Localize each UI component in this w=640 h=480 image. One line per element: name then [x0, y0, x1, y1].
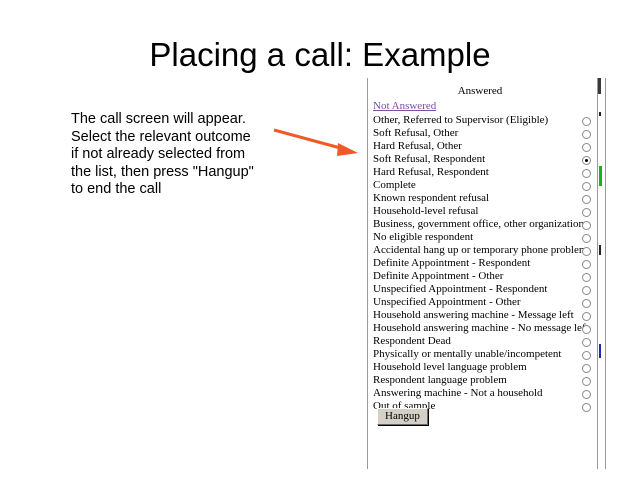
- outcome-row[interactable]: Household-level refusal: [368, 205, 602, 218]
- outcome-label: Respondent language problem: [373, 374, 507, 387]
- outcome-label: Hard Refusal, Respondent: [373, 166, 489, 179]
- outcome-radio[interactable]: [582, 312, 591, 321]
- outcome-radio[interactable]: [582, 273, 591, 282]
- outcome-radio[interactable]: [582, 390, 591, 399]
- outcome-label: Complete: [373, 179, 416, 192]
- outcome-label: Known respondent refusal: [373, 192, 489, 205]
- outcome-radio[interactable]: [582, 338, 591, 347]
- outcome-row[interactable]: Unspecified Appointment - Other: [368, 296, 602, 309]
- outcome-radio[interactable]: [582, 156, 591, 165]
- outcome-radio[interactable]: [582, 247, 591, 256]
- answered-header: Answered: [369, 85, 591, 97]
- outcome-radio[interactable]: [582, 325, 591, 334]
- outcome-row[interactable]: Household level language problem: [368, 361, 602, 374]
- outcome-radio[interactable]: [582, 234, 591, 243]
- outcome-radio[interactable]: [582, 169, 591, 178]
- outcome-row[interactable]: Household answering machine - No message…: [368, 322, 602, 335]
- outcome-row[interactable]: Other, Referred to Supervisor (Eligible): [368, 114, 602, 127]
- outcome-row[interactable]: Hard Refusal, Other: [368, 140, 602, 153]
- outcome-radio[interactable]: [582, 351, 591, 360]
- outcome-radio[interactable]: [582, 143, 591, 152]
- instruction-text: The call screen will appear. Select the …: [71, 111, 286, 199]
- outcome-row[interactable]: Business, government office, other organ…: [368, 218, 602, 231]
- outcome-label: Accidental hang up or temporary phone pr…: [373, 244, 587, 257]
- not-answered-link[interactable]: Not Answered: [373, 100, 436, 112]
- outcome-row[interactable]: Unspecified Appointment - Respondent: [368, 283, 602, 296]
- scrollbar-mark-a: [599, 112, 601, 116]
- outcome-label: Answering machine - Not a household: [373, 387, 543, 400]
- scrollbar-mark-b: [599, 166, 602, 186]
- slide-canvas: Placing a call: Example The call screen …: [0, 0, 640, 480]
- outcome-label: Household answering machine - Message le…: [373, 309, 574, 322]
- scrollbar-mark-d: [599, 344, 601, 358]
- outcome-row[interactable]: Respondent Dead: [368, 335, 602, 348]
- outcome-radio[interactable]: [582, 364, 591, 373]
- outcome-row[interactable]: Respondent language problem: [368, 374, 602, 387]
- outcome-row[interactable]: Soft Refusal, Respondent: [368, 153, 602, 166]
- outcome-radio[interactable]: [582, 195, 591, 204]
- outcome-label: No eligible respondent: [373, 231, 473, 244]
- page-title: Placing a call: Example: [0, 36, 640, 74]
- outcome-radio[interactable]: [582, 182, 591, 191]
- call-screen-panel: Answered Not Answered Other, Referred to…: [367, 78, 601, 469]
- outcome-row[interactable]: Answering machine - Not a household: [368, 387, 602, 400]
- outcome-radio[interactable]: [582, 377, 591, 386]
- outcome-row[interactable]: Definite Appointment - Other: [368, 270, 602, 283]
- outcome-row[interactable]: Complete: [368, 179, 602, 192]
- outcome-radio[interactable]: [582, 117, 591, 126]
- outcome-row[interactable]: Known respondent refusal: [368, 192, 602, 205]
- outcome-radio[interactable]: [582, 260, 591, 269]
- outcome-row[interactable]: Hard Refusal, Respondent: [368, 166, 602, 179]
- outcome-label: Definite Appointment - Respondent: [373, 257, 530, 270]
- hangup-button[interactable]: Hangup: [377, 408, 428, 425]
- panel-scrollbar[interactable]: [597, 78, 606, 469]
- outcome-label: Soft Refusal, Other: [373, 127, 458, 140]
- outcome-row[interactable]: Accidental hang up or temporary phone pr…: [368, 244, 602, 257]
- outcome-radio[interactable]: [582, 130, 591, 139]
- outcome-label: Physically or mentally unable/incompeten…: [373, 348, 561, 361]
- outcome-label: Other, Referred to Supervisor (Eligible): [373, 114, 548, 127]
- outcome-label: Household level language problem: [373, 361, 527, 374]
- outcome-label: Unspecified Appointment - Other: [373, 296, 521, 309]
- scrollbar-thumb[interactable]: [598, 78, 601, 94]
- outcome-label: Household-level refusal: [373, 205, 478, 218]
- outcome-label: Household answering machine - No message…: [373, 322, 589, 335]
- outcome-radio[interactable]: [582, 221, 591, 230]
- outcome-row[interactable]: Household answering machine - Message le…: [368, 309, 602, 322]
- outcome-label: Business, government office, other organ…: [373, 218, 584, 231]
- outcome-radio[interactable]: [582, 286, 591, 295]
- outcome-label: Unspecified Appointment - Respondent: [373, 283, 547, 296]
- scrollbar-mark-c: [599, 245, 601, 255]
- outcome-radio[interactable]: [582, 403, 591, 412]
- outcome-row[interactable]: Soft Refusal, Other: [368, 127, 602, 140]
- outcome-radio[interactable]: [582, 299, 591, 308]
- outcome-label: Definite Appointment - Other: [373, 270, 503, 283]
- outcome-list: Other, Referred to Supervisor (Eligible)…: [368, 114, 602, 413]
- outcome-row[interactable]: No eligible respondent: [368, 231, 602, 244]
- outcome-label: Respondent Dead: [373, 335, 451, 348]
- outcome-label: Hard Refusal, Other: [373, 140, 462, 153]
- outcome-label: Soft Refusal, Respondent: [373, 153, 485, 166]
- outcome-row[interactable]: Physically or mentally unable/incompeten…: [368, 348, 602, 361]
- outcome-row[interactable]: Definite Appointment - Respondent: [368, 257, 602, 270]
- outcome-radio[interactable]: [582, 208, 591, 217]
